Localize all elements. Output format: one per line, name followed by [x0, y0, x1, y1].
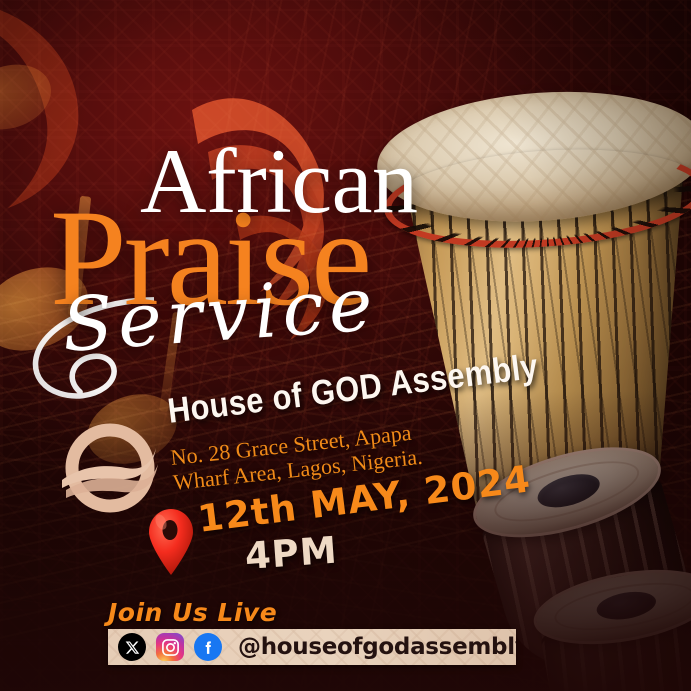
- church-swoosh-ring-logo: [60, 418, 160, 518]
- instagram-icon[interactable]: [156, 633, 184, 661]
- title-line-african: African: [140, 138, 417, 225]
- event-time: 4PM: [244, 529, 339, 578]
- facebook-icon[interactable]: [194, 633, 222, 661]
- social-handle: @houseofgodassembly: [238, 634, 516, 660]
- join-us-live-label: Join Us Live: [108, 598, 277, 627]
- social-handle-bar[interactable]: @houseofgodassembly: [108, 629, 516, 665]
- flyer-canvas: Praise African Service House of GOD Asse…: [0, 0, 691, 691]
- map-pin-icon: [146, 508, 196, 576]
- x-twitter-icon[interactable]: [118, 633, 146, 661]
